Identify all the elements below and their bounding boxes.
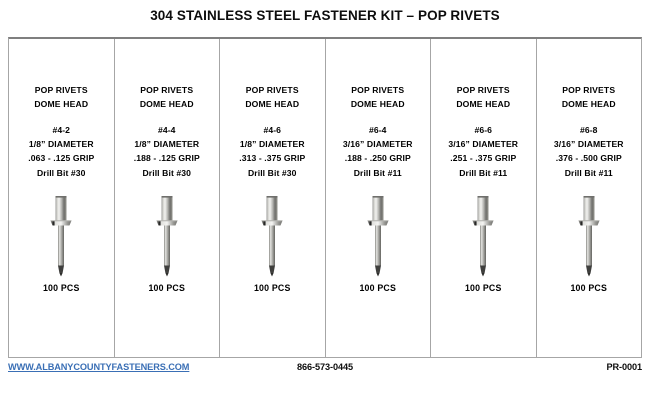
quantity-label: 100 PCS (326, 283, 431, 293)
drill-bit-spec: Drill Bit #11 (326, 166, 431, 180)
product-name-line2: DOME HEAD (537, 97, 642, 111)
page-title: 304 STAINLESS STEEL FASTENER KIT – POP R… (0, 8, 650, 23)
pop-rivet-dome-head-image (43, 194, 79, 280)
product-name-line1: POP RIVETS (220, 83, 325, 97)
product-name-line2: DOME HEAD (431, 97, 536, 111)
diameter-spec: 1/8” DIAMETER (115, 137, 220, 151)
part-number: #6-8 (537, 123, 642, 137)
pop-rivet-dome-head-image (360, 194, 396, 280)
product-name-line1: POP RIVETS (326, 83, 431, 97)
diameter-spec: 3/16” DIAMETER (326, 137, 431, 151)
drill-bit-spec: Drill Bit #11 (431, 166, 536, 180)
quantity-label: 100 PCS (115, 283, 220, 293)
grip-range-spec: .251 - .375 GRIP (431, 151, 536, 165)
product-specs: #4-4 1/8” DIAMETER .188 - .125 GRIP Dril… (115, 123, 220, 180)
kit-cell: POP RIVETS DOME HEAD #4-4 1/8” DIAMETER … (115, 39, 221, 357)
kit-cell-content: POP RIVETS DOME HEAD #6-8 3/16” DIAMETER… (537, 39, 642, 357)
product-name: POP RIVETS DOME HEAD (9, 83, 114, 111)
grip-range-spec: .063 - .125 GRIP (9, 151, 114, 165)
part-number: #4-6 (220, 123, 325, 137)
kit-cell-content: POP RIVETS DOME HEAD #4-6 1/8” DIAMETER … (220, 39, 325, 357)
diameter-spec: 1/8” DIAMETER (220, 137, 325, 151)
part-number: #6-6 (431, 123, 536, 137)
part-number: #4-2 (9, 123, 114, 137)
kit-cell: POP RIVETS DOME HEAD #6-6 3/16” DIAMETER… (431, 39, 537, 357)
product-name-line1: POP RIVETS (431, 83, 536, 97)
kit-cell-content: POP RIVETS DOME HEAD #6-6 3/16” DIAMETER… (431, 39, 536, 357)
product-specs: #4-6 1/8” DIAMETER .313 - .375 GRIP Dril… (220, 123, 325, 180)
kit-cell: POP RIVETS DOME HEAD #4-2 1/8” DIAMETER … (9, 39, 115, 357)
product-name-line2: DOME HEAD (9, 97, 114, 111)
product-specs: #4-2 1/8” DIAMETER .063 - .125 GRIP Dril… (9, 123, 114, 180)
product-specs: #6-4 3/16” DIAMETER .188 - .250 GRIP Dri… (326, 123, 431, 180)
quantity-label: 100 PCS (220, 283, 325, 293)
diameter-spec: 3/16” DIAMETER (537, 137, 642, 151)
pop-rivet-dome-head-image (254, 194, 290, 280)
part-number: #4-4 (115, 123, 220, 137)
product-name-line2: DOME HEAD (115, 97, 220, 111)
grip-range-spec: .188 - .125 GRIP (115, 151, 220, 165)
drill-bit-spec: Drill Bit #11 (537, 166, 642, 180)
footer: WWW.ALBANYCOUNTYFASTENERS.COM 866-573-04… (0, 360, 650, 382)
product-name-line2: DOME HEAD (220, 97, 325, 111)
product-specs: #6-6 3/16” DIAMETER .251 - .375 GRIP Dri… (431, 123, 536, 180)
diameter-spec: 1/8” DIAMETER (9, 137, 114, 151)
kit-cell-content: POP RIVETS DOME HEAD #4-4 1/8” DIAMETER … (115, 39, 220, 357)
part-number: #6-4 (326, 123, 431, 137)
grip-range-spec: .313 - .375 GRIP (220, 151, 325, 165)
quantity-label: 100 PCS (9, 283, 114, 293)
kit-cell: POP RIVETS DOME HEAD #6-8 3/16” DIAMETER… (537, 39, 642, 357)
product-name-line2: DOME HEAD (326, 97, 431, 111)
part-number-reference: PR-0001 (606, 362, 642, 372)
product-specs: #6-8 3/16” DIAMETER .376 - .500 GRIP Dri… (537, 123, 642, 180)
diameter-spec: 3/16” DIAMETER (431, 137, 536, 151)
product-name-line1: POP RIVETS (9, 83, 114, 97)
phone-number: 866-573-0445 (0, 362, 650, 372)
product-name: POP RIVETS DOME HEAD (326, 83, 431, 111)
quantity-label: 100 PCS (431, 283, 536, 293)
product-name: POP RIVETS DOME HEAD (537, 83, 642, 111)
kit-cell: POP RIVETS DOME HEAD #4-6 1/8” DIAMETER … (220, 39, 326, 357)
kit-cell: POP RIVETS DOME HEAD #6-4 3/16” DIAMETER… (326, 39, 432, 357)
product-name-line1: POP RIVETS (115, 83, 220, 97)
drill-bit-spec: Drill Bit #30 (9, 166, 114, 180)
kit-cell-content: POP RIVETS DOME HEAD #4-2 1/8” DIAMETER … (9, 39, 114, 357)
drill-bit-spec: Drill Bit #30 (115, 166, 220, 180)
quantity-label: 100 PCS (537, 283, 642, 293)
product-name: POP RIVETS DOME HEAD (431, 83, 536, 111)
pop-rivet-dome-head-image (465, 194, 501, 280)
pop-rivet-dome-head-image (149, 194, 185, 280)
product-name: POP RIVETS DOME HEAD (115, 83, 220, 111)
drill-bit-spec: Drill Bit #30 (220, 166, 325, 180)
product-name: POP RIVETS DOME HEAD (220, 83, 325, 111)
kit-cell-content: POP RIVETS DOME HEAD #6-4 3/16” DIAMETER… (326, 39, 431, 357)
grip-range-spec: .188 - .250 GRIP (326, 151, 431, 165)
fastener-kit-table: POP RIVETS DOME HEAD #4-2 1/8” DIAMETER … (8, 37, 642, 358)
product-name-line1: POP RIVETS (537, 83, 642, 97)
grip-range-spec: .376 - .500 GRIP (537, 151, 642, 165)
pop-rivet-dome-head-image (571, 194, 607, 280)
